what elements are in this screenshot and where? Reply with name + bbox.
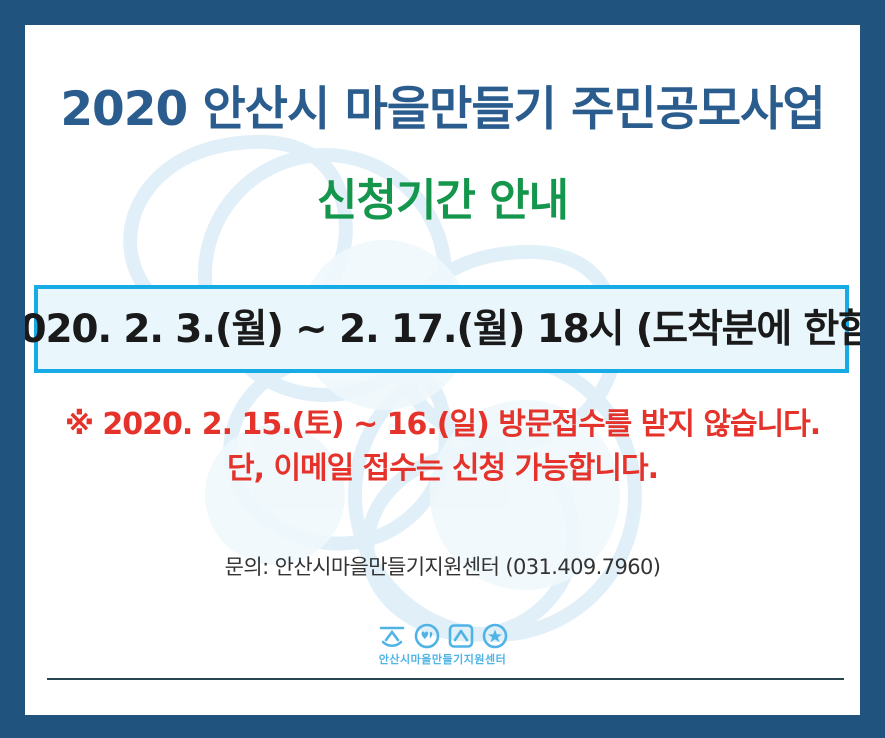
poster-frame: 2020 안산시 마을만들기 주민공모사업 신청기간 안내 2020. 2. 3… (0, 0, 885, 738)
square-chevron-icon (447, 623, 475, 649)
logo-mark-group (377, 623, 509, 649)
logo-organization-name: 안산시마을만들기지원센터 (379, 651, 506, 667)
application-period-text: 2020. 2. 3.(월) ~ 2. 17.(월) 18시 (도착분에 한함) (25, 310, 860, 349)
page-subtitle: 신청기간 안내 (25, 178, 860, 224)
notice-block: ※ 2020. 2. 15.(토) ~ 16.(일) 방문접수를 받지 않습니다… (25, 403, 860, 490)
jieut-arc-icon (377, 623, 407, 649)
poster-card: 2020 안산시 마을만들기 주민공모사업 신청기간 안내 2020. 2. 3… (25, 25, 860, 715)
notice-line-1: ※ 2020. 2. 15.(토) ~ 16.(일) 방문접수를 받지 않습니다… (25, 403, 860, 447)
footer-divider (47, 678, 844, 680)
contact-info: 문의: 안산시마을만들기지원센터 (031.409.7960) (25, 551, 860, 581)
notice-line-2: 단, 이메일 접수는 신청 가능합니다. (25, 447, 860, 491)
circle-heart-icon (413, 623, 441, 649)
application-period-box: 2020. 2. 3.(월) ~ 2. 17.(월) 18시 (도착분에 한함) (34, 285, 849, 373)
circle-star-icon (481, 623, 509, 649)
page-title: 2020 안산시 마을만들기 주민공모사업 (25, 85, 860, 134)
organization-logo: 안산시마을만들기지원센터 (25, 623, 860, 667)
